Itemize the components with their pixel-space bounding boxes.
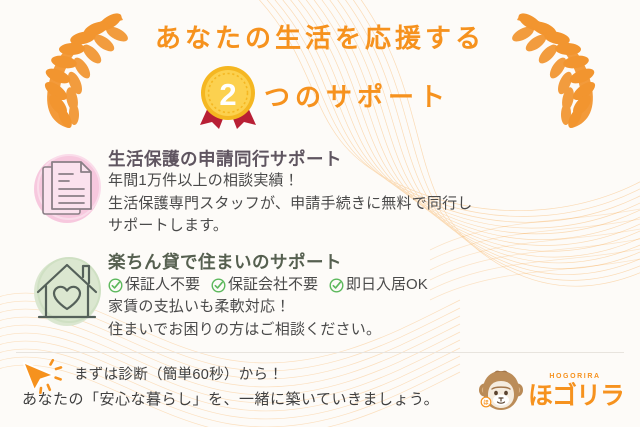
brand-roman-name: HOGORIRA [528,373,622,380]
check-item-2: 保証会社不要 [211,274,318,297]
page-title-line2-row: 2 2 つのサポート [0,63,640,129]
support-1-body: 生活保護の申請同行サポート 年間1万件以上の相談実績！ 生活保護専門スタッフが、… [108,145,473,238]
check-label-1: 保証人不要 [125,274,200,297]
brand-wordmark: HOGORIRA ほゴリラ ほゴリラ [528,373,622,409]
support-2-line-1: 家賃の支払いも柔軟対応！ [108,296,428,319]
support-2-checks-row: 保証人不要 保証会社不要 即日入居OK [108,274,428,297]
documents-icon [26,145,108,231]
check-circle-icon [211,278,226,293]
check-label-3: 即日入居OK [346,274,428,297]
support-block-housing: 楽ちん貸で住まいのサポート 保証人不要 保証会社不要 [0,248,640,341]
footer-line-2: あなたの「安心な暮らし」を、一緒に築いていきましょう。 [22,389,439,412]
page-title-line2-text: つのサポート [264,77,450,114]
brand-japanese-name: ほゴリラ [528,381,622,409]
support-1-line-2: 生活保護専門スタッフが、申請手続きに無料で同行し [108,193,473,216]
footer-divider [16,352,624,353]
svg-text:ほゴリラ: ほゴリラ [528,381,622,409]
brand-logo[interactable]: ほ HOGORIRA ほゴリラ ほゴリラ [478,369,622,413]
support-1-line-1: 年間1万件以上の相談実績！ [108,170,473,193]
support-1-heading: 生活保護の申請同行サポート [108,149,473,171]
check-circle-icon [108,278,123,293]
cursor-click-icon [20,359,64,395]
page-title-line1: あなたの生活を応援する [0,24,640,53]
support-2-body: 楽ちん貸で住まいのサポート 保証人不要 保証会社不要 [108,248,428,341]
check-item-1: 保証人不要 [108,274,200,297]
check-label-2: 保証会社不要 [228,274,318,297]
support-block-documents: 生活保護の申請同行サポート 年間1万件以上の相談実績！ 生活保護専門スタッフが、… [0,145,640,238]
check-circle-icon [329,278,344,293]
poster-root: あなたの生活を応援する 2 2 つのサポート [0,0,640,427]
support-2-heading: 楽ちん貸で住まいのサポート [108,252,428,274]
footer-text-block: まずは診断（簡単60秒）から！ あなたの「安心な暮らし」を、一緒に築いていきまし… [22,363,439,412]
medal-badge: 2 2 [196,63,260,129]
house-heart-icon [26,248,108,334]
poster-header: あなたの生活を応援する 2 2 つのサポート [0,0,640,129]
medal-number: 2 [219,77,236,112]
gorilla-mascot-icon: ほ [478,369,524,413]
support-1-line-3: サポートします。 [108,215,473,238]
poster-footer: まずは診断（簡単60秒）から！ あなたの「安心な暮らし」を、一緒に築いていきまし… [0,355,640,427]
check-item-3: 即日入居OK [329,274,428,297]
svg-text:ほ: ほ [483,400,489,407]
support-2-line-2: 住まいでお困りの方はご相談ください。 [108,319,428,342]
footer-line-1: まずは診断（簡単60秒）から！ [22,365,439,385]
